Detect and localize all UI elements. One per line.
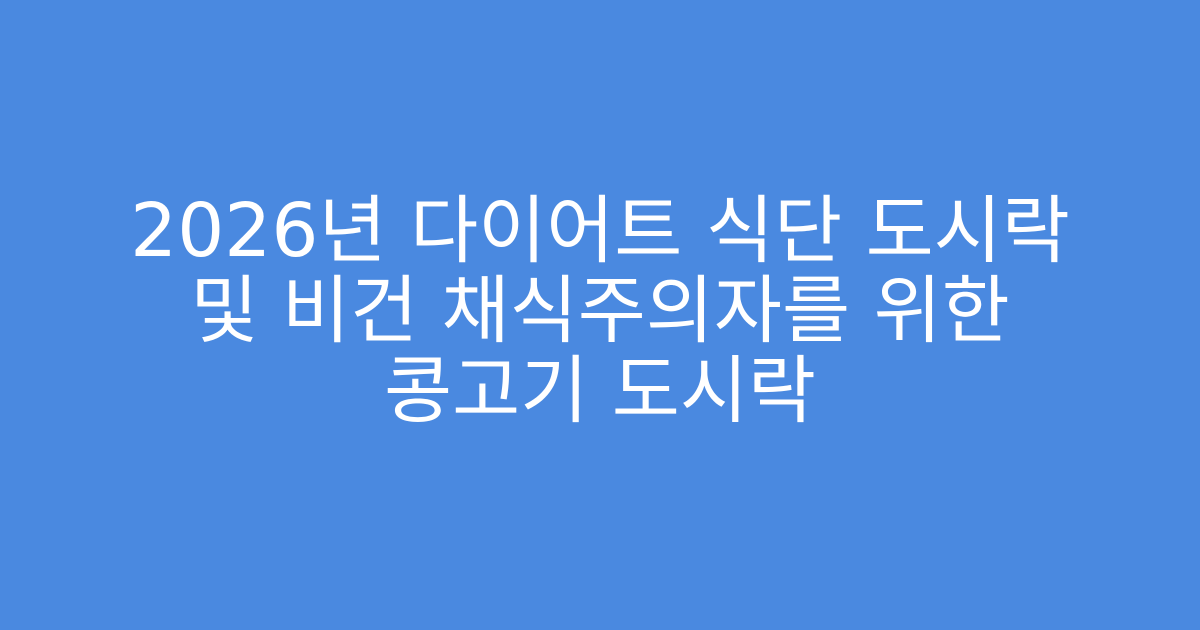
page-title: 2026년 다이어트 식단 도시락 및 비건 채식주의자를 위한 콩고기 도시락 bbox=[120, 191, 1080, 431]
og-image-card: 2026년 다이어트 식단 도시락 및 비건 채식주의자를 위한 콩고기 도시락 bbox=[0, 0, 1200, 630]
title-block: 2026년 다이어트 식단 도시락 및 비건 채식주의자를 위한 콩고기 도시락 bbox=[100, 191, 1100, 431]
